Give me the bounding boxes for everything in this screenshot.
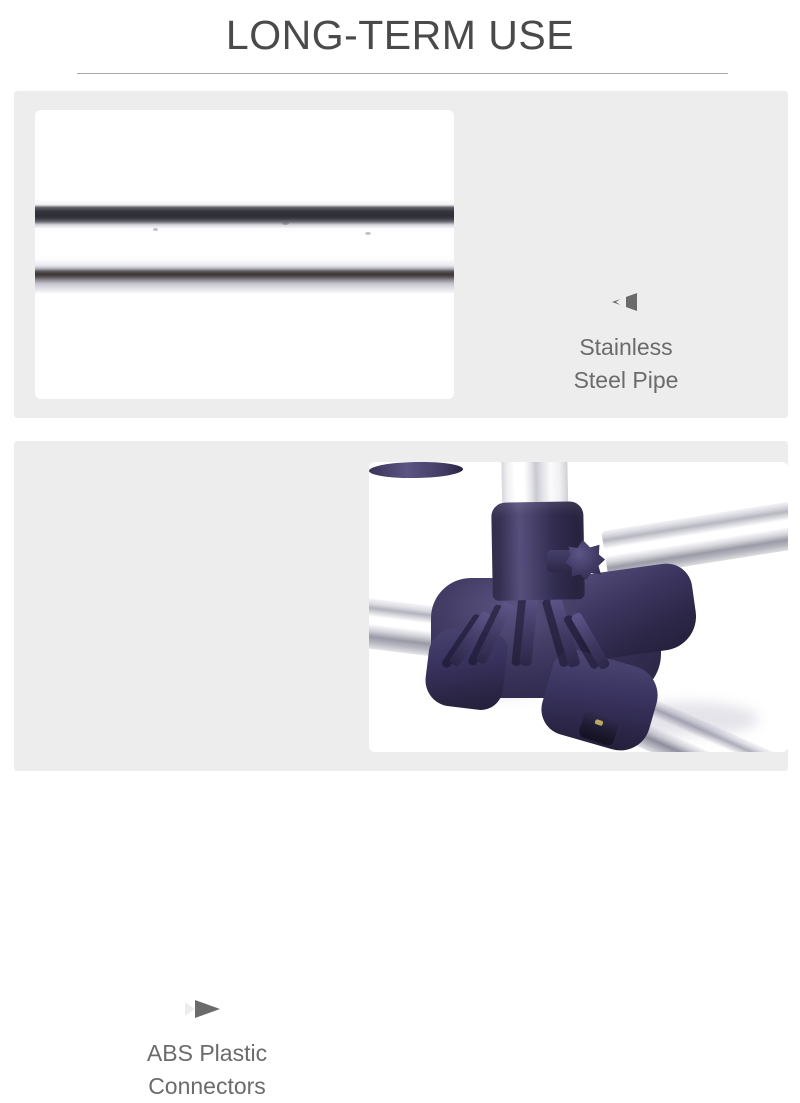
connector-collar-rim: [369, 462, 463, 479]
arrow-left-icon: [612, 293, 637, 311]
stainless-steel-pipe-photo: [35, 110, 454, 399]
connector-scene: [369, 462, 788, 752]
abs-plastic-connector-photo: [369, 462, 788, 752]
right-chrome-pipe: [601, 502, 788, 579]
stainless-steel-pipe-label: Stainless Steel Pipe: [511, 331, 741, 397]
feature-panel-stainless-steel-pipe: Stainless Steel Pipe: [14, 91, 788, 418]
feature-panel-abs-plastic-connectors: ABS Plastic Connectors: [14, 441, 788, 771]
pipe-tube-graphic: [35, 199, 454, 294]
stainless-steel-pipe-label-line2: Steel Pipe: [511, 364, 741, 397]
title-divider: [77, 73, 728, 74]
page-title: LONG-TERM USE: [0, 12, 800, 58]
abs-plastic-connectors-label-line2: Connectors: [92, 1070, 322, 1103]
arrow-right-icon: [195, 1000, 220, 1018]
abs-plastic-connectors-label-line1: ABS Plastic: [92, 1037, 322, 1070]
abs-plastic-connectors-label: ABS Plastic Connectors: [92, 1037, 322, 1103]
stainless-steel-pipe-label-line1: Stainless: [511, 331, 741, 364]
